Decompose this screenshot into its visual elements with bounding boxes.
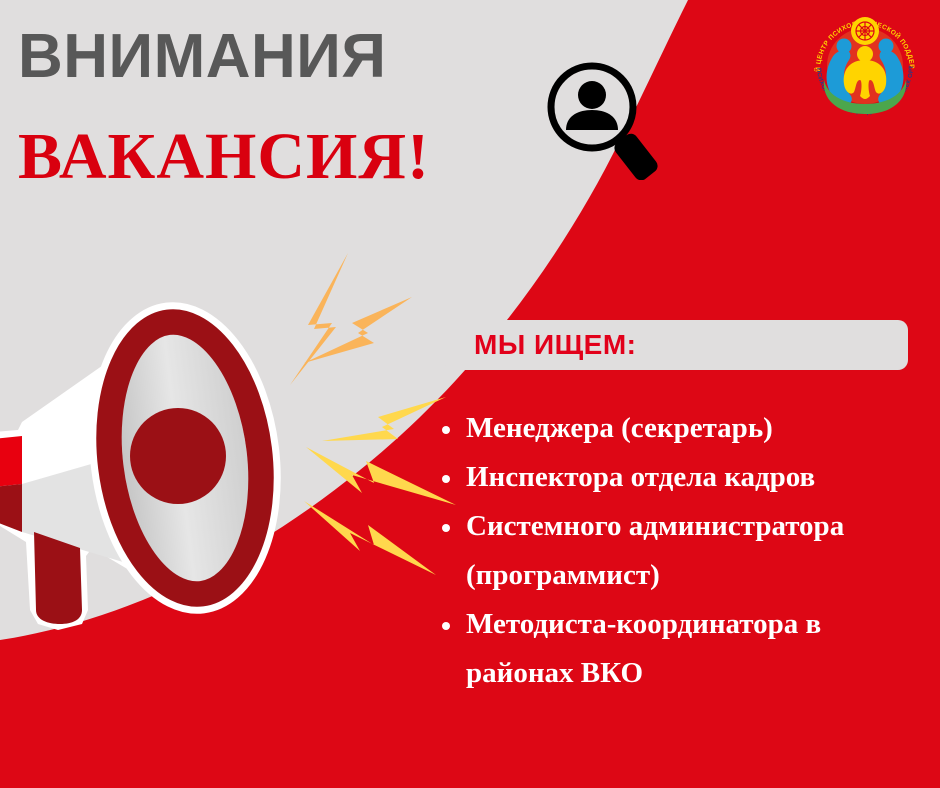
logo-flame — [844, 60, 887, 99]
logo-shanyrak-lines — [856, 22, 874, 40]
we-seek-banner: МЫ ИЩЕМ: — [444, 320, 908, 370]
logo-head-right — [879, 39, 894, 54]
organization-logo: РЕГИОНАЛЬНЫЙ ЦЕНТР ПСИХОЛОГИЧЕСКОЙ ПОДДЕ… — [804, 4, 926, 126]
lightning-bolt-1 — [290, 253, 348, 385]
list-item: Инспектора отдела кадров — [430, 453, 930, 502]
vacancy-heading: ВАКАНСИЯ! — [18, 124, 538, 190]
attention-heading: ВНИМАНИЯ — [18, 26, 538, 88]
logo-head-left — [837, 39, 852, 54]
logo-head-center — [857, 46, 873, 62]
list-item: Менеджера (секретарь) — [430, 404, 930, 453]
lightning-bolt-3 — [322, 397, 446, 441]
megaphone-rear-top — [0, 436, 22, 490]
search-person-icon — [545, 60, 665, 180]
megaphone-rear-bottom — [0, 484, 22, 532]
person-body-icon — [566, 110, 618, 130]
page-title: ВНИМАНИЯ ВАКАНСИЯ! — [18, 26, 538, 190]
vacancy-poster: ВНИМАНИЯ ВАКАНСИЯ! РЕГИОНАЛЬНЫЙ ЦЕНТР ПС… — [0, 0, 940, 788]
lightning-bolt-5 — [304, 501, 436, 575]
we-seek-label: МЫ ИЩЕМ: — [474, 329, 637, 361]
megaphone-driver — [130, 408, 226, 504]
list-item: Системного администратора (программист) — [430, 502, 930, 600]
vacancy-list: Менеджера (секретарь) Инспектора отдела … — [430, 404, 930, 698]
list-item: Методиста-координатора в районах ВКО — [430, 600, 930, 698]
person-head-icon — [578, 81, 606, 109]
